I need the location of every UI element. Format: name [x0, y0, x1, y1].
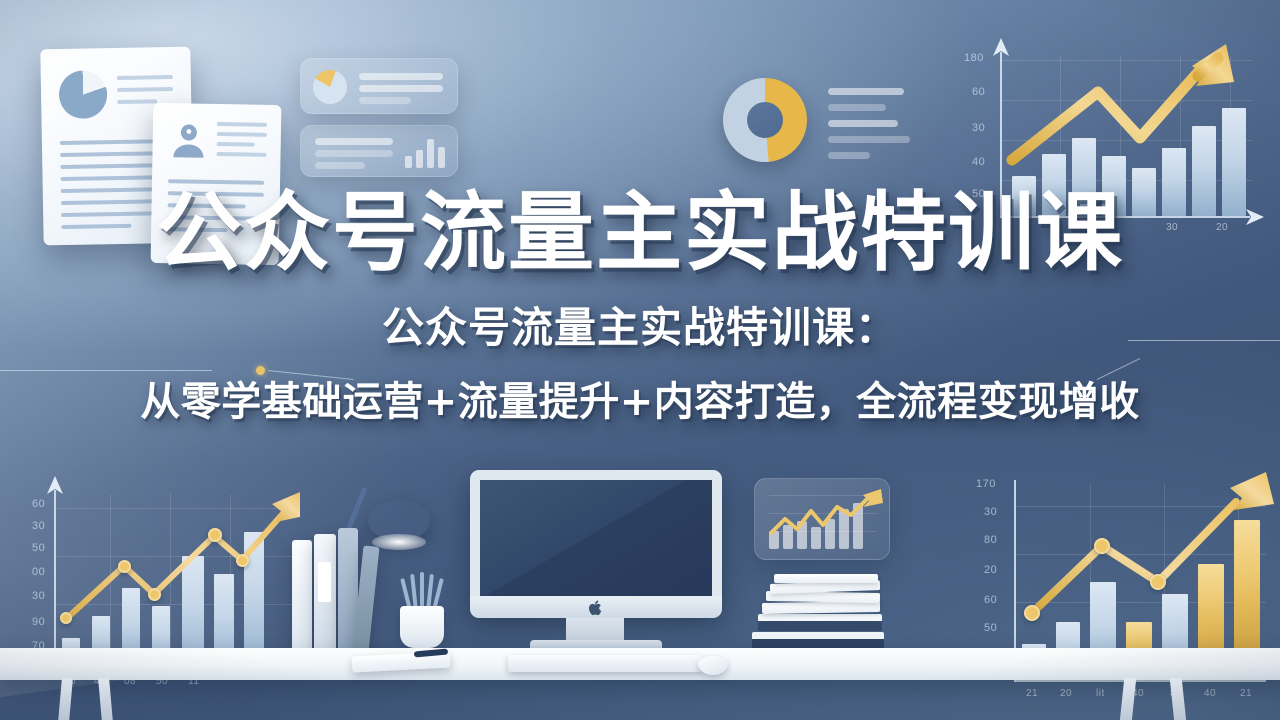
- data-point: [1150, 574, 1166, 590]
- binder-label: [318, 562, 331, 602]
- y-tick: 80: [984, 534, 997, 546]
- desk-lamp-arm: [346, 487, 368, 532]
- donut-chart-icon: [723, 78, 807, 162]
- x-tick: 21: [1240, 688, 1252, 699]
- data-point: [1094, 538, 1110, 554]
- paper-stack: [762, 601, 880, 614]
- trend-arrow-gold: [1008, 458, 1280, 678]
- wall-chart-card: [754, 478, 890, 560]
- x-tick: 20: [1060, 688, 1072, 699]
- y-tick: 40: [972, 156, 985, 168]
- x-tick: lit: [1096, 688, 1105, 699]
- binder: [292, 540, 312, 652]
- imac-monitor: [470, 470, 722, 612]
- data-point: [1024, 605, 1040, 621]
- data-point: [118, 560, 131, 573]
- data-point: [148, 588, 161, 601]
- poster-text-block: 公众号流量主实战特训课 公众号流量主实战特训课： 从零学基础运营+流量提升+内容…: [0, 188, 1280, 427]
- x-axis: [1014, 680, 1266, 682]
- stat-card-bars: [300, 125, 458, 177]
- office-chair: [496, 672, 746, 720]
- course-poster: 180 60 30 40 50 30 20: [0, 0, 1280, 720]
- y-tick: 30: [32, 520, 45, 532]
- y-tick: 00: [32, 566, 45, 578]
- pie-chart-icon: [313, 70, 347, 104]
- stat-card-pie: [300, 58, 458, 114]
- x-tick: 40: [1204, 688, 1216, 699]
- pencil-cup: [400, 606, 444, 648]
- book-stack-middle: [758, 614, 882, 631]
- y-tick: 50: [32, 542, 45, 554]
- paper-stack: [774, 574, 878, 583]
- y-tick: 170: [976, 478, 996, 490]
- page-title: 公众号流量主实战特训课: [0, 188, 1280, 278]
- zigzag-up-arrow-gold-icon: [763, 485, 887, 545]
- y-tick: 50: [984, 622, 997, 634]
- subtitle-line-2: 从零学基础运营+流量提升+内容打造，全流程变现增收: [0, 369, 1280, 427]
- pie-chart-icon: [59, 70, 108, 119]
- desk-lamp-glow: [372, 534, 426, 550]
- trend-line-gold: [50, 476, 300, 676]
- apple-logo-icon: [588, 600, 604, 616]
- y-tick: 20: [984, 564, 997, 576]
- y-tick: 60: [972, 86, 985, 98]
- person-avatar-icon: [168, 119, 209, 160]
- y-tick: 30: [32, 590, 45, 602]
- y-tick: 180: [964, 52, 984, 64]
- y-tick: 30: [972, 122, 985, 134]
- data-point: [208, 528, 222, 542]
- subtitle-line-1: 公众号流量主实战特训课：: [0, 294, 1280, 355]
- x-tick: 21: [1026, 688, 1038, 699]
- y-tick: 60: [32, 498, 45, 510]
- data-point: [236, 554, 249, 567]
- data-point: [60, 612, 72, 624]
- keyboard: [508, 655, 702, 672]
- y-tick: 90: [32, 616, 45, 628]
- y-tick: 60: [984, 594, 997, 606]
- desk-leg: [58, 678, 73, 720]
- y-tick: 30: [984, 506, 997, 518]
